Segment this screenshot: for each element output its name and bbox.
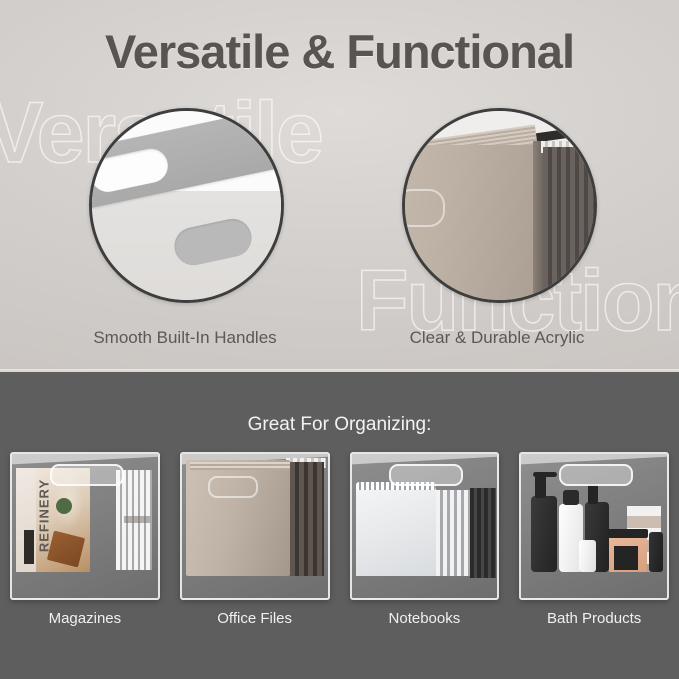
acrylic-bin [519,452,669,600]
bath-salts-jar [609,536,647,572]
page-title: Versatile & Functional [0,24,679,79]
magazine-tag [124,516,150,523]
label-office-files: Office Files [170,610,340,627]
product-infographic: Versatile Function Versatile & Functiona… [0,0,679,679]
use-case-notebooks [340,444,510,604]
section-heading: Great For Organizing: [0,414,679,436]
bin-lid [350,452,500,465]
bin-lid [519,452,669,465]
bottom-section: Great For Organizing: REFINERY [0,372,679,679]
folder-handle-icon [208,476,258,498]
stacked-files [290,462,324,576]
use-case-magazines: REFINERY [0,444,170,604]
tan-folder [402,145,535,303]
feature-caption-acrylic: Clear & Durable Acrylic [352,328,642,348]
bin-handle-icon [389,464,463,486]
use-case-office-files [170,444,340,604]
bin-lid [10,452,160,465]
handle-cutout-icon [89,146,171,195]
dark-notebooks [470,488,496,578]
expanding-folder [186,460,290,576]
folder-pleats [190,462,294,470]
bin-handle-icon [50,464,124,486]
label-bath-products: Bath Products [509,610,679,627]
white-small-bottle [579,540,596,572]
notebook-stack [436,490,470,576]
acrylic-bin [180,452,330,600]
feature-image-acrylic [402,108,597,303]
black-vial [649,532,663,572]
magazine-plant [56,498,72,514]
acrylic-bin: REFINERY [10,452,160,600]
feature-image-handles [89,108,284,303]
use-case-labels: Magazines Office Files Notebooks Bath Pr… [0,610,679,627]
magazine-strip [24,530,34,564]
stacked-files [543,147,597,303]
label-notebooks: Notebooks [340,610,510,627]
label-magazines: Magazines [0,610,170,627]
folder-spine [533,141,543,303]
notebook-cover [356,486,436,576]
use-case-grid: REFINERY [0,444,679,604]
acrylic-bin [350,452,500,600]
feature-caption-handles: Smooth Built-In Handles [40,328,330,348]
black-pump-bottle [531,496,557,572]
use-case-bath-products [509,444,679,604]
magazine-title: REFINERY [37,468,52,566]
bin-handle-icon [559,464,633,486]
top-section: Versatile Function Versatile & Functiona… [0,0,679,372]
